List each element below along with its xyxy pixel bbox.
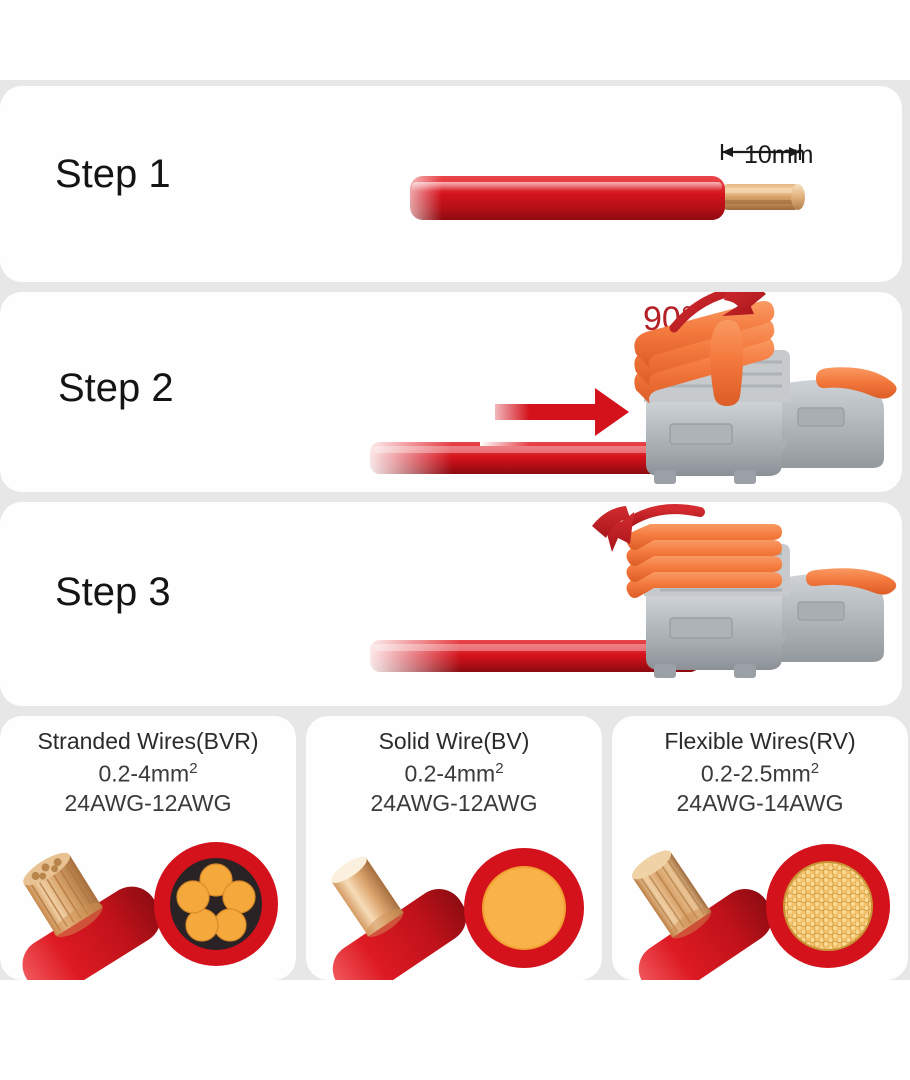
spec-title-2: Flexible Wires(RV): [612, 728, 908, 755]
cross-section-stranded: [154, 842, 278, 966]
wire-art-stranded: [0, 810, 296, 980]
angle-label-90deg: 90°: [643, 300, 694, 339]
spec-card-stranded: Stranded Wires(BVR) 0.2-4mm2 24AWG-12AWG: [0, 716, 296, 980]
step-3-label: Step 3: [55, 570, 171, 615]
step-2-label: Step 2: [58, 366, 174, 411]
cross-section-flexible: [766, 844, 890, 968]
wire-body-solid: [306, 822, 476, 980]
spec-area-value-1: 0.2-4mm: [404, 761, 495, 787]
wire-art-solid: [306, 810, 602, 980]
wire-body-stranded: [0, 822, 171, 980]
dimension-label-10mm: 10mm: [744, 141, 813, 170]
spec-area-value-0: 0.2-4mm: [98, 761, 189, 787]
spec-area-0: 0.2-4mm2: [0, 760, 296, 788]
spec-area-2: 0.2-2.5mm2: [612, 760, 908, 788]
spec-title-0: Stranded Wires(BVR): [0, 728, 296, 755]
spec-card-solid: Solid Wire(BV) 0.2-4mm2 24AWG-12AWG: [306, 716, 602, 980]
spec-card-flexible: Flexible Wires(RV) 0.2-2.5mm2 24AWG-14AW…: [612, 716, 908, 980]
instruction-page: Step 1 10mm: [0, 0, 910, 1080]
spec-area-sup-0: 2: [189, 760, 197, 777]
cross-section-solid: [464, 848, 584, 968]
wire-art-flexible: [612, 810, 908, 980]
step-1-label: Step 1: [55, 152, 171, 197]
wire-body-flexible: [612, 816, 782, 980]
spec-area-sup-2: 2: [811, 760, 819, 777]
spec-area-value-2: 0.2-2.5mm: [701, 761, 811, 787]
spec-title-1: Solid Wire(BV): [306, 728, 602, 755]
spec-area-1: 0.2-4mm2: [306, 760, 602, 788]
spec-area-sup-1: 2: [495, 760, 503, 777]
